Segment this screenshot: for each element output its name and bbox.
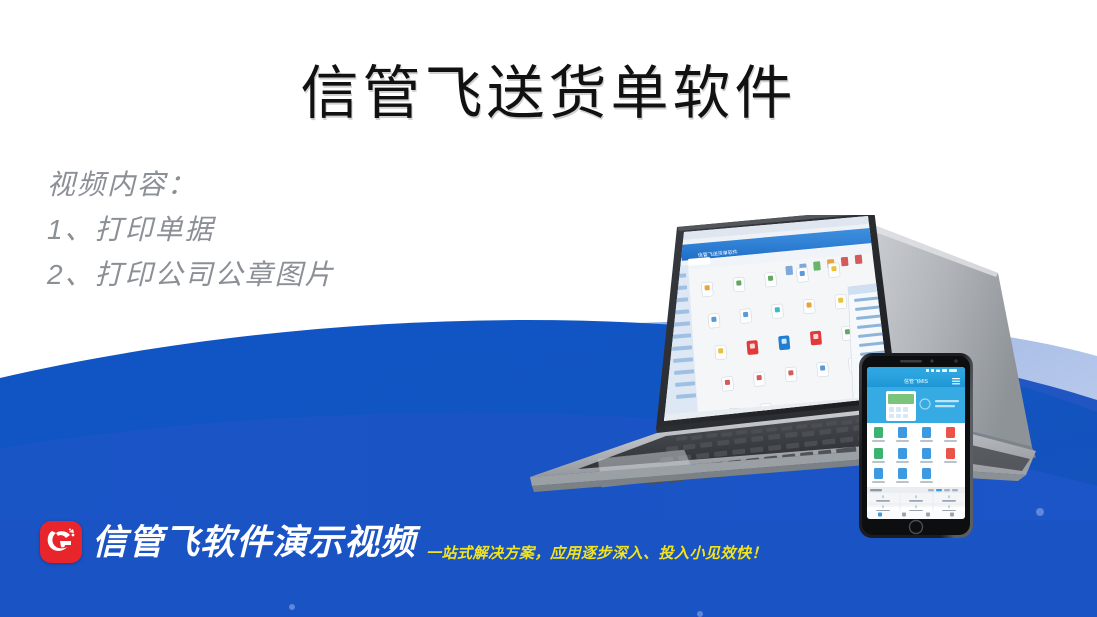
svg-text:0: 0 [915, 505, 917, 509]
decorative-dot [697, 611, 703, 617]
brand-name: 信管飞软件演示视频 [92, 522, 416, 564]
svg-text:0: 0 [882, 505, 884, 509]
svg-text:0: 0 [915, 495, 917, 499]
brand-logo-icon [40, 521, 82, 563]
laptop-front: 信管飞送货单软件 [530, 215, 917, 492]
decorative-dot [289, 604, 295, 610]
contents-item-1: 1、打印单据 [47, 207, 335, 252]
slide-title: 信管飞送货单软件 [0, 46, 1097, 130]
video-contents-list: 视频内容： 1、打印单据 2、打印公司公章图片 [47, 162, 335, 297]
svg-text:0: 0 [948, 495, 950, 499]
presentation-slide: 信管飞送货单软件 [0, 0, 1097, 617]
brand-tagline: 一站式解决方案，应用逐步深入、投入小见效快！ [426, 542, 767, 563]
smartphone: 信管飞MIS [859, 353, 973, 538]
device-photo-group: 信管飞送货单软件 [470, 215, 1097, 545]
decorative-dot [1036, 508, 1044, 516]
svg-text:信管飞MIS: 信管飞MIS [904, 378, 929, 385]
hamburger-icon [952, 378, 960, 384]
svg-text:0: 0 [882, 495, 884, 499]
contents-item-2: 2、打印公司公章图片 [47, 252, 335, 297]
svg-text:0: 0 [948, 505, 950, 509]
contents-heading: 视频内容： [47, 162, 335, 207]
